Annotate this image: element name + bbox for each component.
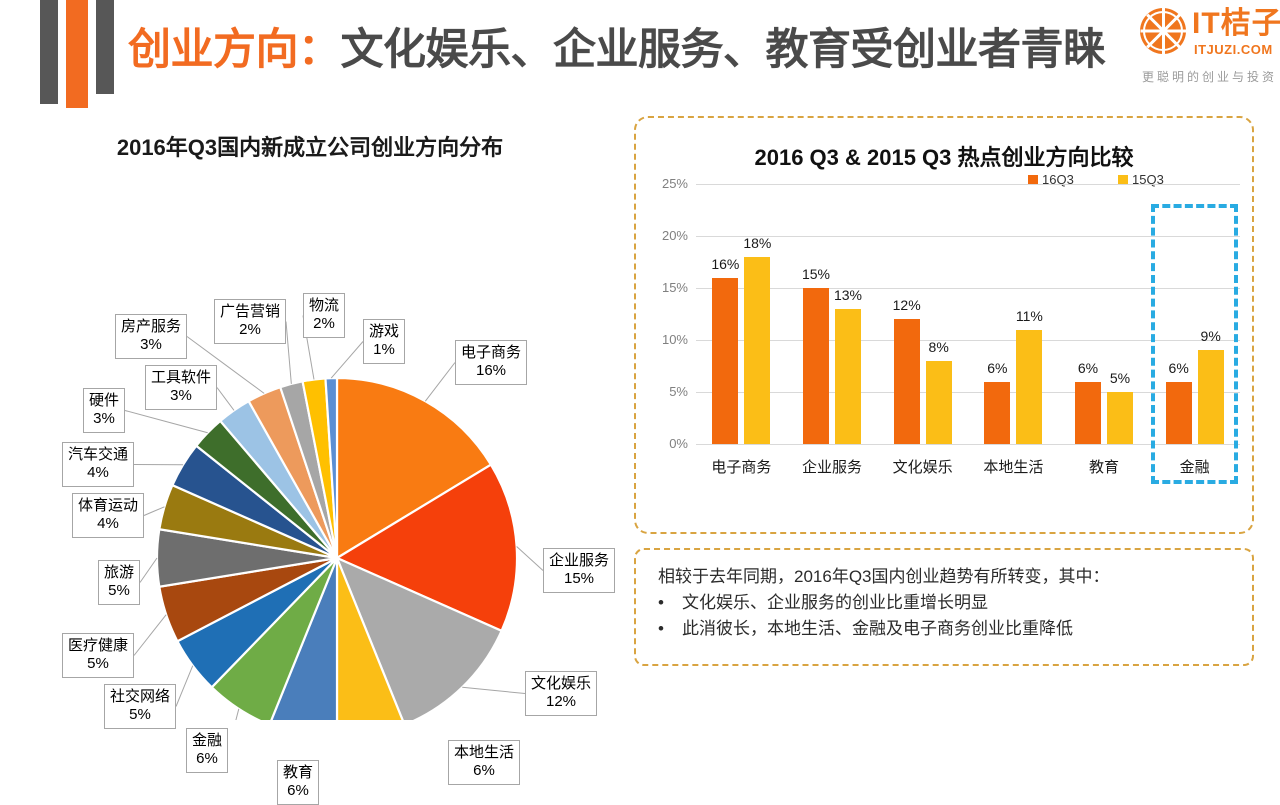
pie-label-value: 3% [121,336,181,354]
pie-label-教育: 教育6% [277,760,319,805]
pie-label-value: 16% [461,362,521,380]
pie-label-name: 文化娱乐 [531,675,591,693]
pie-label-value: 6% [192,750,222,768]
pie-leader-line [217,388,234,411]
pie-label-name: 教育 [283,764,313,782]
pie-label-社交网络: 社交网络5% [104,684,176,729]
pie-label-value: 12% [531,693,591,711]
bar-15Q3-企业服务 [835,309,861,444]
pie-label-name: 工具软件 [151,369,211,387]
x-axis-category-电子商务: 电子商务 [696,456,787,477]
highlight-box-finance [1151,204,1238,484]
pie-label-value: 3% [89,410,119,428]
pie-label-工具软件: 工具软件3% [145,365,217,410]
pie-label-文化娱乐: 文化娱乐12% [525,671,597,716]
x-axis-category-企业服务: 企业服务 [787,456,878,477]
page-title: 创业方向：文化娱乐、企业服务、教育受创业者青睐 [128,12,1118,88]
y-axis-tick-label: 0% [648,436,688,451]
pie-label-value: 2% [220,321,280,339]
y-axis-tick-label: 25% [648,176,688,191]
bar-15Q3-文化娱乐 [926,361,952,444]
pie-label-name: 金融 [192,732,222,750]
pie-leader-line [425,363,455,402]
pie-label-name: 房产服务 [121,318,181,336]
bar-value-label: 16% [704,256,746,272]
pie-label-value: 5% [110,706,170,724]
pie-leader-line [176,666,193,707]
pie-label-name: 本地生活 [454,744,514,762]
pie-leader-line [134,615,166,656]
pie-label-value: 1% [369,341,399,359]
bar-16Q3-本地生活 [984,382,1010,444]
pie-label-游戏: 游戏1% [363,319,405,364]
pie-label-name: 汽车交通 [68,446,128,464]
pie-label-广告营销: 广告营销2% [214,299,286,344]
orange-slice-icon [1140,8,1186,54]
brand-url: ITJUZI.COM [1194,42,1273,57]
brand-name: IT桔子 [1192,8,1280,40]
pie-label-name: 广告营销 [220,303,280,321]
bar-value-label: 13% [827,287,869,303]
bar-value-label: 11% [1008,308,1050,324]
pie-label-value: 3% [151,387,211,405]
pie-label-value: 4% [68,464,128,482]
bar-15Q3-本地生活 [1016,330,1042,444]
bar-16Q3-文化娱乐 [894,319,920,444]
pie-chart: 电子商务16%企业服务15%文化娱乐12%本地生活6%教育6%金融6%社交网络5… [0,108,620,720]
note-bullet-icon: • [658,616,682,642]
note-line-bullet-1: •文化娱乐、企业服务的创业比重增长明显 [658,590,1232,616]
page-header: 创业方向：文化娱乐、企业服务、教育受创业者青睐 IT桔子 ITJUZI.COM … [0,0,1280,108]
pie-label-name: 企业服务 [549,552,609,570]
pie-label-value: 4% [78,515,138,533]
bar-16Q3-企业服务 [803,288,829,444]
pie-label-value: 6% [283,782,313,800]
bar-value-label: 6% [976,360,1018,376]
pie-label-name: 硬件 [89,392,119,410]
pie-label-value: 5% [104,582,134,600]
brand-logo: IT桔子 ITJUZI.COM 更聪明的创业与投资 [1140,6,1274,96]
note-bullet-icon: • [658,590,682,616]
header-accent-bar-right [96,0,114,94]
bar-gridline [696,184,1240,185]
y-axis-tick-label: 15% [648,280,688,295]
pie-label-name: 旅游 [104,564,134,582]
bar-15Q3-电子商务 [744,257,770,444]
bar-16Q3-电子商务 [712,278,738,444]
pie-label-汽车交通: 汽车交通4% [62,442,134,487]
note-bullet-1-text: 文化娱乐、企业服务的创业比重增长明显 [682,593,988,612]
bar-value-label: 8% [918,339,960,355]
pie-leader-line [125,411,208,433]
pie-label-本地生活: 本地生活6% [448,740,520,785]
pie-label-房产服务: 房产服务3% [115,314,187,359]
x-axis-category-教育: 教育 [1059,456,1150,477]
pie-label-value: 6% [454,762,514,780]
header-accent-bar-left [40,0,58,104]
pie-label-体育运动: 体育运动4% [72,493,144,538]
y-axis-tick-label: 10% [648,332,688,347]
y-axis-tick-label: 20% [648,228,688,243]
pie-label-金融: 金融6% [186,728,228,773]
pie-label-value: 2% [309,315,339,333]
pie-label-医疗健康: 医疗健康5% [62,633,134,678]
bar-value-label: 5% [1099,370,1141,386]
pie-leader-line [517,546,543,570]
pie-label-value: 15% [549,570,609,588]
bar-chart-title: 2016 Q3 & 2015 Q3 热点创业方向比较 [636,140,1252,172]
pie-label-name: 社交网络 [110,688,170,706]
note-line-bullet-2: •此消彼长，本地生活、金融及电子商务创业比重降低 [658,616,1232,642]
note-line-intro: 相较于去年同期，2016年Q3国内创业趋势有所转变，其中： [658,564,1232,590]
brand-tagline: 更聪明的创业与投资 [1142,68,1277,85]
pie-label-旅游: 旅游5% [98,560,140,605]
pie-leader-line [286,322,291,384]
page-title-main: 文化娱乐、企业服务、教育受创业者青睐 [341,26,1106,74]
bar-15Q3-教育 [1107,392,1133,444]
pie-leader-line [140,558,157,583]
pie-label-硬件: 硬件3% [83,388,125,433]
pie-leader-line [462,687,525,693]
pie-label-name: 医疗健康 [68,637,128,655]
pie-label-name: 物流 [309,297,339,315]
bar-value-label: 18% [736,235,778,251]
bar-16Q3-教育 [1075,382,1101,444]
pie-label-name: 游戏 [369,323,399,341]
x-axis-category-文化娱乐: 文化娱乐 [877,456,968,477]
bar-value-label: 12% [886,297,928,313]
pie-leader-line [331,342,363,379]
summary-note-panel: 相较于去年同期，2016年Q3国内创业趋势有所转变，其中： •文化娱乐、企业服务… [634,548,1254,666]
page-title-accent: 创业方向： [128,26,341,74]
bar-chart-panel: 2016 Q3 & 2015 Q3 热点创业方向比较 16Q315Q3 0%5%… [634,116,1254,534]
header-accent-bar-orange [66,0,88,108]
pie-chart-panel: 2016年Q3国内新成立公司创业方向分布 电子商务16%企业服务15%文化娱乐1… [0,108,620,720]
x-axis-category-本地生活: 本地生活 [968,456,1059,477]
pie-label-value: 5% [68,655,128,673]
pie-label-电子商务: 电子商务16% [455,340,527,385]
pie-label-企业服务: 企业服务15% [543,548,615,593]
note-bullet-2-text: 此消彼长，本地生活、金融及电子商务创业比重降低 [682,619,1073,638]
y-axis-tick-label: 5% [648,384,688,399]
pie-label-name: 体育运动 [78,497,138,515]
bar-value-label: 15% [795,266,837,282]
pie-label-物流: 物流2% [303,293,345,338]
pie-leader-line [228,709,239,720]
pie-label-name: 电子商务 [461,344,521,362]
